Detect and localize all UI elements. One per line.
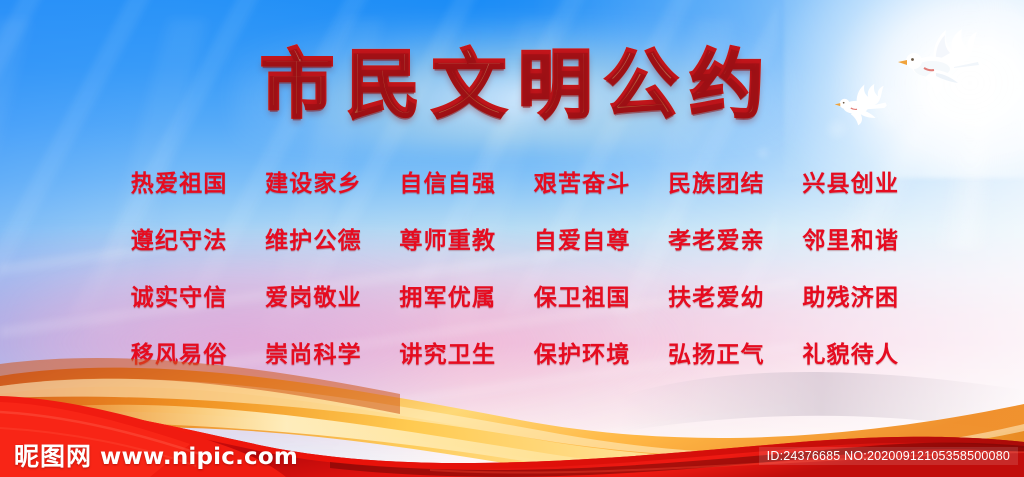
slogan-item: 扶老爱幼 — [649, 276, 783, 320]
slogan-item: 拥军优属 — [381, 276, 515, 320]
slogan-item: 兴县创业 — [784, 162, 918, 206]
nipic-logo: 昵图网 — [14, 444, 92, 469]
slogan-item: 爱岗敬业 — [246, 276, 380, 320]
slogan-item: 民族团结 — [649, 162, 783, 206]
page-title: 市民文明公约 — [242, 44, 782, 127]
slogan-item: 热爱祖国 — [112, 162, 246, 206]
slogan-item: 诚实守信 — [112, 276, 246, 320]
slogan-item: 建设家乡 — [246, 162, 380, 206]
image-id-text: ID:24376685 NO:20200912105358500080 — [759, 447, 1018, 465]
slogan-item: 自信自强 — [381, 162, 515, 206]
slogan-item: 维护公德 — [246, 219, 380, 263]
lens-flare-icon — [756, 146, 770, 160]
nipic-url: www.nipic.com — [100, 446, 298, 469]
slogan-item: 邻里和谐 — [784, 219, 918, 263]
watermark: 昵图网 www.nipic.com — [14, 444, 298, 469]
slogan-item: 助残济困 — [784, 276, 918, 320]
poster-canvas: 市民文明公约 热爱祖国 建设家乡 自信自强 艰苦奋斗 民族团结 兴县创业 遵纪守… — [0, 0, 1024, 477]
slogan-item: 孝老爱亲 — [649, 219, 783, 263]
slogan-item: 尊师重教 — [381, 219, 515, 263]
slogan-item: 遵纪守法 — [112, 219, 246, 263]
slogan-item: 艰苦奋斗 — [515, 162, 649, 206]
slogan-item: 自爱自尊 — [515, 219, 649, 263]
slogan-item: 保卫祖国 — [515, 276, 649, 320]
title-block: 市民文明公约 — [0, 44, 1024, 127]
